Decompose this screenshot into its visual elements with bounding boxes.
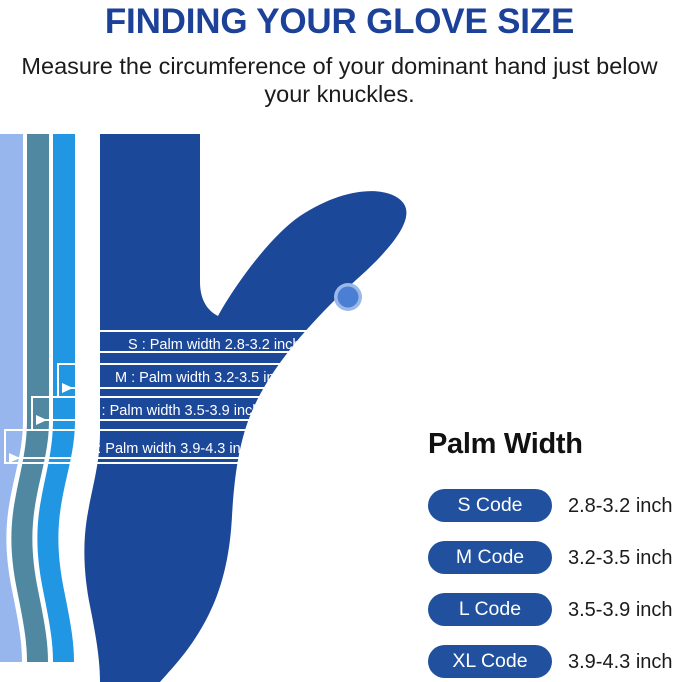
knuckle-marker-dot	[338, 287, 359, 308]
size-pill-s-label: S Code	[428, 489, 552, 522]
size-value-m: 3.2-3.5 inch	[568, 541, 673, 574]
measurement-label-m: M : Palm width 3.2-3.5 inch	[115, 371, 290, 386]
measurement-label-l: L : Palm width 3.5-3.9 inch	[90, 404, 260, 419]
legend-title: Palm Width	[428, 428, 583, 461]
page-subtitle: Measure the circumference of your domina…	[12, 52, 667, 108]
size-pill-s[interactable]: S Code	[428, 489, 552, 522]
size-value-xl: 3.9-4.3 inch	[568, 645, 673, 678]
size-value-s: 2.8-3.2 inch	[568, 489, 673, 522]
page-title: FINDING YOUR GLOVE SIZE	[0, 2, 679, 42]
glove-size-infographic: FINDING YOUR GLOVE SIZE Measure the circ…	[0, 0, 679, 682]
measurement-label-xl: XL : Palm width 3.9-4.3 inch	[76, 442, 256, 457]
size-pill-xl[interactable]: XL Code	[428, 645, 552, 678]
size-pill-l-label: L Code	[428, 593, 552, 626]
size-pill-m-label: M Code	[428, 541, 552, 574]
size-pill-l[interactable]: L Code	[428, 593, 552, 626]
size-pill-m[interactable]: M Code	[428, 541, 552, 574]
size-value-l: 3.5-3.9 inch	[568, 593, 673, 626]
size-pill-xl-label: XL Code	[428, 645, 552, 678]
measurement-label-s: S : Palm width 2.8-3.2 inch	[128, 338, 300, 353]
